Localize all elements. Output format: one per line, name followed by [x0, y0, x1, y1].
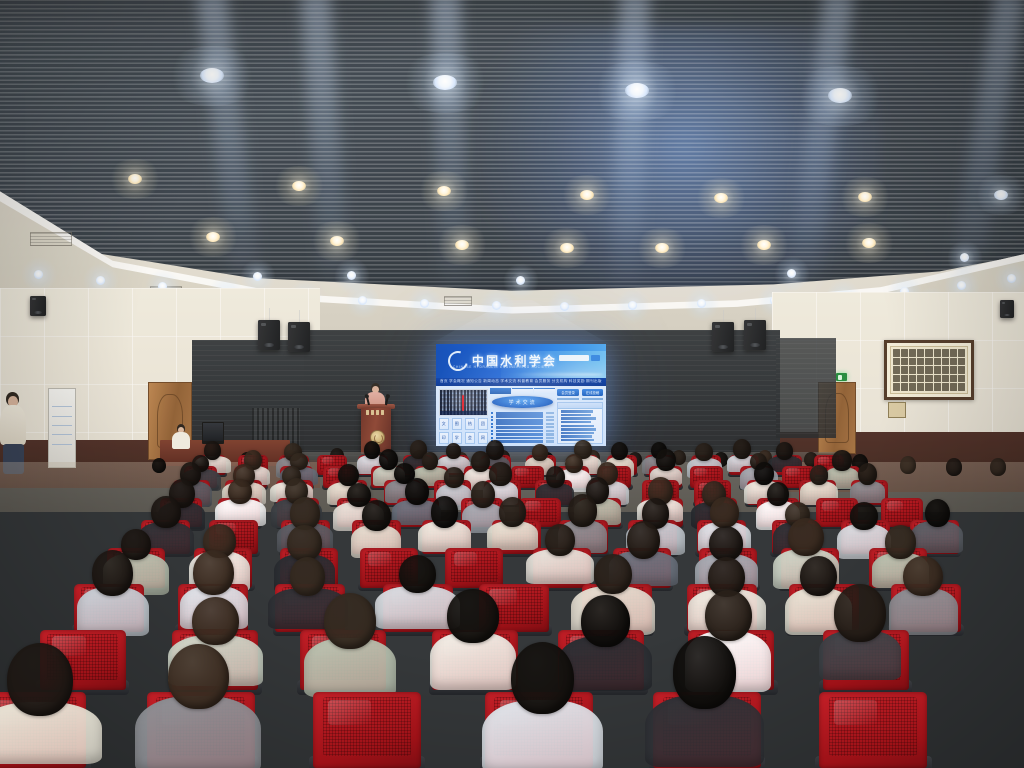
- audience-member: [7, 643, 73, 768]
- audience-member: [903, 556, 943, 643]
- calligraphy-glyph: [925, 375, 932, 383]
- site-header: 中国水利学会 CHINESE HYDRAULIC ENGINEERING SOC…: [436, 344, 606, 378]
- audience-member-head: [810, 465, 829, 484]
- news-tab-2[interactable]: [534, 388, 555, 394]
- banner-oval-label: 学术交流: [509, 399, 537, 406]
- news-bullet-icon: [491, 423, 493, 425]
- wall-speaker-left-rear: [30, 296, 46, 316]
- audience-member: [834, 584, 886, 692]
- news-row[interactable]: [491, 422, 554, 425]
- quick-icon-glyph: 会: [468, 435, 472, 441]
- news-bullet-icon: [491, 433, 493, 435]
- audience-member-head: [151, 496, 180, 528]
- calligraphy-glyph: [942, 358, 949, 366]
- calligraphy-glyph: [950, 366, 957, 374]
- side-panel-row[interactable]: [561, 428, 596, 430]
- news-row[interactable]: [491, 415, 554, 418]
- quick-icon-glyph: 图: [455, 421, 459, 427]
- site-column-middle: 学术交流: [490, 389, 556, 444]
- audience-member-head: [705, 590, 752, 641]
- site-nav[interactable]: 首页学会概况通知公告新闻动态学术交流科普教育会员服务分支机构科技奖励期刊出版: [436, 378, 606, 387]
- artwork-glyphs: [893, 349, 965, 391]
- banner-oval[interactable]: 学术交流: [492, 396, 552, 408]
- calligraphy-glyph: [950, 375, 957, 383]
- news-title: [496, 422, 543, 425]
- calligraphy-glyph: [934, 383, 941, 391]
- technician: [172, 424, 190, 448]
- calligraphy-glyph: [958, 366, 965, 374]
- seat-highlight: [694, 468, 707, 475]
- calligraphy-glyph: [958, 358, 965, 366]
- audience-member-head: [324, 593, 376, 649]
- quick-link-sub-0: [557, 398, 579, 400]
- site-nav-item-8[interactable]: 科技奖励: [569, 379, 585, 384]
- quick-icon-tile-3[interactable]: 团: [478, 418, 488, 430]
- auditorium-seat: [819, 692, 927, 768]
- news-bullet-icon: [491, 412, 493, 414]
- pa-speaker: [288, 322, 310, 352]
- audience-member-head: [546, 466, 565, 487]
- audience-member-head: [800, 556, 838, 597]
- calligraphy-glyph: [893, 366, 900, 374]
- audience-member-head-far: [990, 458, 1006, 476]
- news-title: [496, 415, 543, 418]
- notice-board: [48, 388, 76, 468]
- audience-member-head: [903, 556, 943, 596]
- seat-highlight: [786, 468, 799, 475]
- site-nav-item-6[interactable]: 会员服务: [535, 379, 551, 384]
- calligraphy-glyph: [917, 375, 924, 383]
- news-date: [546, 423, 554, 425]
- seat-highlight: [525, 501, 542, 511]
- news-date: [546, 440, 554, 442]
- site-body: 文图热团印学会网 学术交流 会员登录在线投稿: [436, 386, 606, 446]
- quick-icon-tile-4[interactable]: 印: [439, 432, 449, 444]
- seat-highlight: [454, 552, 477, 566]
- ceiling-slats: [0, 0, 1024, 310]
- quick-link-button-0[interactable]: 会员登录: [557, 389, 579, 396]
- calligraphy-glyph: [901, 383, 908, 391]
- quick-icon-glyph: 网: [481, 435, 485, 441]
- calligraphy-glyph: [909, 358, 916, 366]
- quick-link-button-1[interactable]: 在线投稿: [582, 389, 604, 396]
- site-nav-item-5[interactable]: 科普教育: [518, 379, 534, 384]
- audience-member-head: [431, 496, 458, 527]
- audience-member-head: [290, 557, 326, 596]
- news-date: [546, 437, 554, 439]
- audience-member-head: [511, 642, 574, 714]
- calligraphy-glyph: [934, 349, 941, 357]
- audience-member: [581, 595, 630, 701]
- news-tab-0[interactable]: [490, 388, 511, 394]
- calligraphy-glyph: [917, 366, 924, 374]
- audience-member-head: [656, 449, 676, 471]
- news-bullet-icon: [491, 426, 493, 428]
- quick-link-sublabels: [557, 397, 603, 400]
- seat-highlight: [822, 501, 839, 511]
- speaker-hanger-rod: [299, 310, 300, 322]
- audience-member: [324, 593, 376, 708]
- audience-member: [290, 557, 326, 637]
- site-nav-item-7[interactable]: 分支机构: [552, 379, 568, 384]
- quick-icon-glyph: 印: [442, 435, 446, 441]
- quick-icon-grid[interactable]: 文图热团印学会网: [439, 418, 488, 443]
- news-title: [496, 437, 543, 440]
- calligraphy-glyph: [950, 383, 957, 391]
- audience-member: [925, 499, 950, 559]
- audience-member-head: [776, 442, 793, 460]
- audience-member-head: [710, 497, 739, 527]
- news-date: [546, 426, 554, 428]
- audience-member-head: [471, 481, 495, 508]
- audience-member-head: [611, 442, 628, 461]
- calligraphy-glyph: [909, 383, 916, 391]
- wall-plaque: [888, 402, 906, 418]
- audience-member-head: [471, 451, 489, 472]
- audience-member-head: [594, 554, 632, 594]
- news-date: [546, 433, 554, 435]
- side-panel-list[interactable]: [558, 409, 602, 443]
- calligraphy-glyph: [958, 383, 965, 391]
- calligraphy-glyph: [958, 349, 965, 357]
- calligraphy-glyph: [950, 349, 957, 357]
- seat-highlight: [834, 700, 877, 726]
- technician-torso: [172, 432, 190, 449]
- logo-mark-icon: [444, 347, 471, 374]
- calligraphy-glyph: [958, 375, 965, 383]
- site-nav-item-2[interactable]: 通知公告: [466, 379, 482, 384]
- pa-speaker: [258, 320, 280, 350]
- calligraphy-glyph: [925, 358, 932, 366]
- audience-member-head: [405, 478, 429, 505]
- audience-member: [399, 555, 437, 637]
- news-row[interactable]: [491, 437, 554, 440]
- seat-highlight: [515, 468, 528, 475]
- ceiling-vent: [444, 296, 472, 306]
- hero-photo-caption: [440, 411, 487, 415]
- stage-wall-right-texture: [776, 338, 836, 438]
- audience-member: [673, 636, 737, 768]
- auditorium-seat: [445, 548, 503, 588]
- side-panel: [557, 402, 603, 443]
- audience-member-head: [850, 502, 879, 531]
- audience-member-head: [362, 500, 391, 531]
- audience-member-head: [447, 589, 499, 643]
- search-input[interactable]: [559, 355, 589, 361]
- audience-member-head: [885, 525, 917, 559]
- calligraphy-glyph: [934, 358, 941, 366]
- quick-icon-tile-1[interactable]: 图: [452, 418, 462, 430]
- calligraphy-glyph: [909, 375, 916, 383]
- audience-member-head: [568, 494, 597, 527]
- calligraphy-glyph: [917, 358, 924, 366]
- ceiling: [0, 0, 1024, 330]
- pa-speaker: [712, 322, 734, 352]
- news-date: [546, 412, 554, 414]
- news-row[interactable]: [491, 433, 554, 436]
- operator-monitor-screen: [203, 423, 223, 441]
- calligraphy-glyph: [942, 375, 949, 383]
- exit-sign-icon: [836, 373, 847, 381]
- speaker-hanger-rod: [755, 308, 756, 320]
- audience-member-head: [709, 526, 743, 561]
- quick-icon-glyph: 团: [481, 421, 485, 427]
- search-button[interactable]: [591, 355, 600, 361]
- news-row[interactable]: [491, 430, 554, 433]
- wall-speaker-right-rear: [1000, 300, 1014, 318]
- ceiling-vent: [30, 232, 72, 246]
- audience-member-head: [695, 443, 713, 461]
- audience-member-head: [788, 518, 823, 557]
- seat-highlight: [322, 457, 334, 464]
- audience-member-head: [545, 524, 575, 556]
- auditorium-photo: 中国水利学会 CHINESE HYDRAULIC ENGINEERING SOC…: [0, 0, 1024, 768]
- news-row[interactable]: [491, 419, 554, 422]
- calligraphy-glyph: [893, 349, 900, 357]
- site-subtitle: CHINESE HYDRAULIC ENGINEERING SOCIETY: [453, 365, 550, 369]
- audience-member: [168, 644, 229, 768]
- calligraphy-glyph: [917, 349, 924, 357]
- quick-link-buttons[interactable]: 会员登录在线投稿: [557, 389, 603, 396]
- hero-photo-banner: [462, 395, 464, 411]
- audience-member-head-far: [900, 456, 916, 474]
- side-panel-row[interactable]: [561, 410, 593, 412]
- news-bullet-icon: [491, 430, 493, 432]
- podium-characters: [366, 410, 384, 415]
- auditorium-seat: [313, 692, 421, 768]
- projection-screen: 中国水利学会 CHINESE HYDRAULIC ENGINEERING SOC…: [436, 344, 606, 446]
- site-nav-item-4[interactable]: 学术交流: [500, 379, 516, 384]
- calligraphy-glyph: [901, 366, 908, 374]
- seat-highlight: [328, 700, 371, 726]
- side-panel-row[interactable]: [561, 414, 591, 416]
- audience-member-head: [422, 452, 439, 471]
- audience-member-head: [92, 550, 133, 595]
- audience-member-head: [673, 636, 737, 709]
- audience-member-head: [228, 479, 252, 504]
- quick-icon-tile-0[interactable]: 文: [439, 418, 449, 430]
- side-panel-row[interactable]: [561, 435, 592, 437]
- calligraphy-glyph: [942, 366, 949, 374]
- audience-member-head: [399, 555, 437, 593]
- calligraphy-glyph: [925, 366, 932, 374]
- audience-member-head: [287, 525, 321, 561]
- quick-icon-tile-6[interactable]: 会: [465, 432, 475, 444]
- quick-link-button-label: 会员登录: [561, 390, 575, 395]
- news-list[interactable]: [490, 411, 556, 444]
- site-nav-item-9[interactable]: 期刊出版: [586, 379, 602, 384]
- calligraphy-glyph: [909, 366, 916, 374]
- quick-icon-glyph: 热: [468, 421, 472, 427]
- calligraphy-glyph: [901, 358, 908, 366]
- quick-icon-tile-2[interactable]: 热: [465, 418, 475, 430]
- audience-member-head: [7, 643, 73, 716]
- audience-member-head-far: [946, 458, 962, 476]
- pa-speaker: [744, 320, 766, 350]
- standing-attendee-torso: [0, 405, 26, 445]
- site-nav-item-3[interactable]: 新闻动态: [483, 379, 499, 384]
- calligraphy-glyph: [950, 358, 957, 366]
- news-date: [546, 416, 554, 418]
- calligraphy-glyph: [893, 358, 900, 366]
- calligraphy-glyph: [942, 349, 949, 357]
- site-nav-item-0[interactable]: 首页: [440, 379, 448, 384]
- audience-member-head: [832, 450, 851, 471]
- quick-link-sub-1: [582, 398, 604, 400]
- calligraphy-glyph: [925, 349, 932, 357]
- news-date: [546, 419, 554, 421]
- news-row[interactable]: [491, 426, 554, 429]
- speaker-hanger-rod: [269, 308, 270, 320]
- calligraphy-glyph: [925, 383, 932, 391]
- audience-member-head: [532, 444, 548, 461]
- news-title: [496, 430, 543, 433]
- audience-member-head: [925, 499, 950, 527]
- site-column-right: 会员登录在线投稿: [557, 389, 603, 444]
- news-bullet-icon: [491, 437, 493, 439]
- news-date: [546, 430, 554, 432]
- news-title: [496, 412, 543, 415]
- news-bullet-icon: [491, 419, 493, 421]
- audience-member-head: [193, 550, 234, 595]
- audience-member-head: [444, 467, 464, 487]
- side-panel-row[interactable]: [561, 432, 594, 434]
- quick-icon-glyph: 文: [442, 421, 446, 427]
- calligraphy-glyph: [934, 366, 941, 374]
- calligraphy-artwork: [884, 340, 974, 400]
- news-tabstrip[interactable]: [490, 389, 556, 394]
- quick-icon-glyph: 学: [455, 435, 459, 441]
- audience-member-head: [192, 597, 239, 645]
- audience-member: [447, 589, 499, 700]
- side-panel-row[interactable]: [561, 421, 591, 423]
- calligraphy-glyph: [909, 349, 916, 357]
- audience-member-head: [499, 497, 526, 526]
- calligraphy-glyph: [893, 375, 900, 383]
- side-panel-row[interactable]: [561, 425, 594, 427]
- audience-member-head-far: [152, 458, 166, 473]
- audience-member-head: [168, 644, 229, 710]
- quick-link-button-label: 在线投稿: [586, 390, 600, 395]
- speaker-hanger-rod: [723, 310, 724, 322]
- hero-photo[interactable]: [439, 389, 488, 417]
- audience-member-head: [733, 439, 751, 459]
- site-search[interactable]: [559, 355, 600, 361]
- audience-member: [545, 524, 575, 591]
- calligraphy-glyph: [901, 375, 908, 383]
- news-tab-1[interactable]: [512, 388, 533, 394]
- side-panel-row[interactable]: [561, 417, 596, 419]
- site-column-left: 文图热团印学会网: [439, 389, 488, 444]
- news-title: [496, 433, 543, 436]
- calligraphy-glyph: [901, 349, 908, 357]
- calligraphy-glyph: [893, 383, 900, 391]
- audience-member-head: [565, 454, 583, 473]
- news-bullet-icon: [491, 416, 493, 418]
- calligraphy-glyph: [934, 375, 941, 383]
- news-title: [496, 426, 543, 429]
- stage-wall-right: [776, 338, 836, 438]
- news-row[interactable]: [491, 412, 554, 415]
- site-nav-item-1[interactable]: 学会概况: [449, 379, 465, 384]
- audience-member-head: [581, 595, 630, 647]
- news-title: [496, 419, 543, 422]
- seat-highlight: [818, 457, 830, 464]
- audience-member-head: [858, 463, 877, 485]
- seat-highlight: [368, 552, 391, 566]
- audience-member-head: [834, 584, 886, 642]
- audience-member-head: [364, 441, 380, 459]
- seat-highlight: [887, 501, 904, 511]
- calligraphy-glyph: [942, 383, 949, 391]
- calligraphy-glyph: [917, 383, 924, 391]
- audience-member: [511, 642, 574, 768]
- quick-icon-tile-5[interactable]: 学: [452, 432, 462, 444]
